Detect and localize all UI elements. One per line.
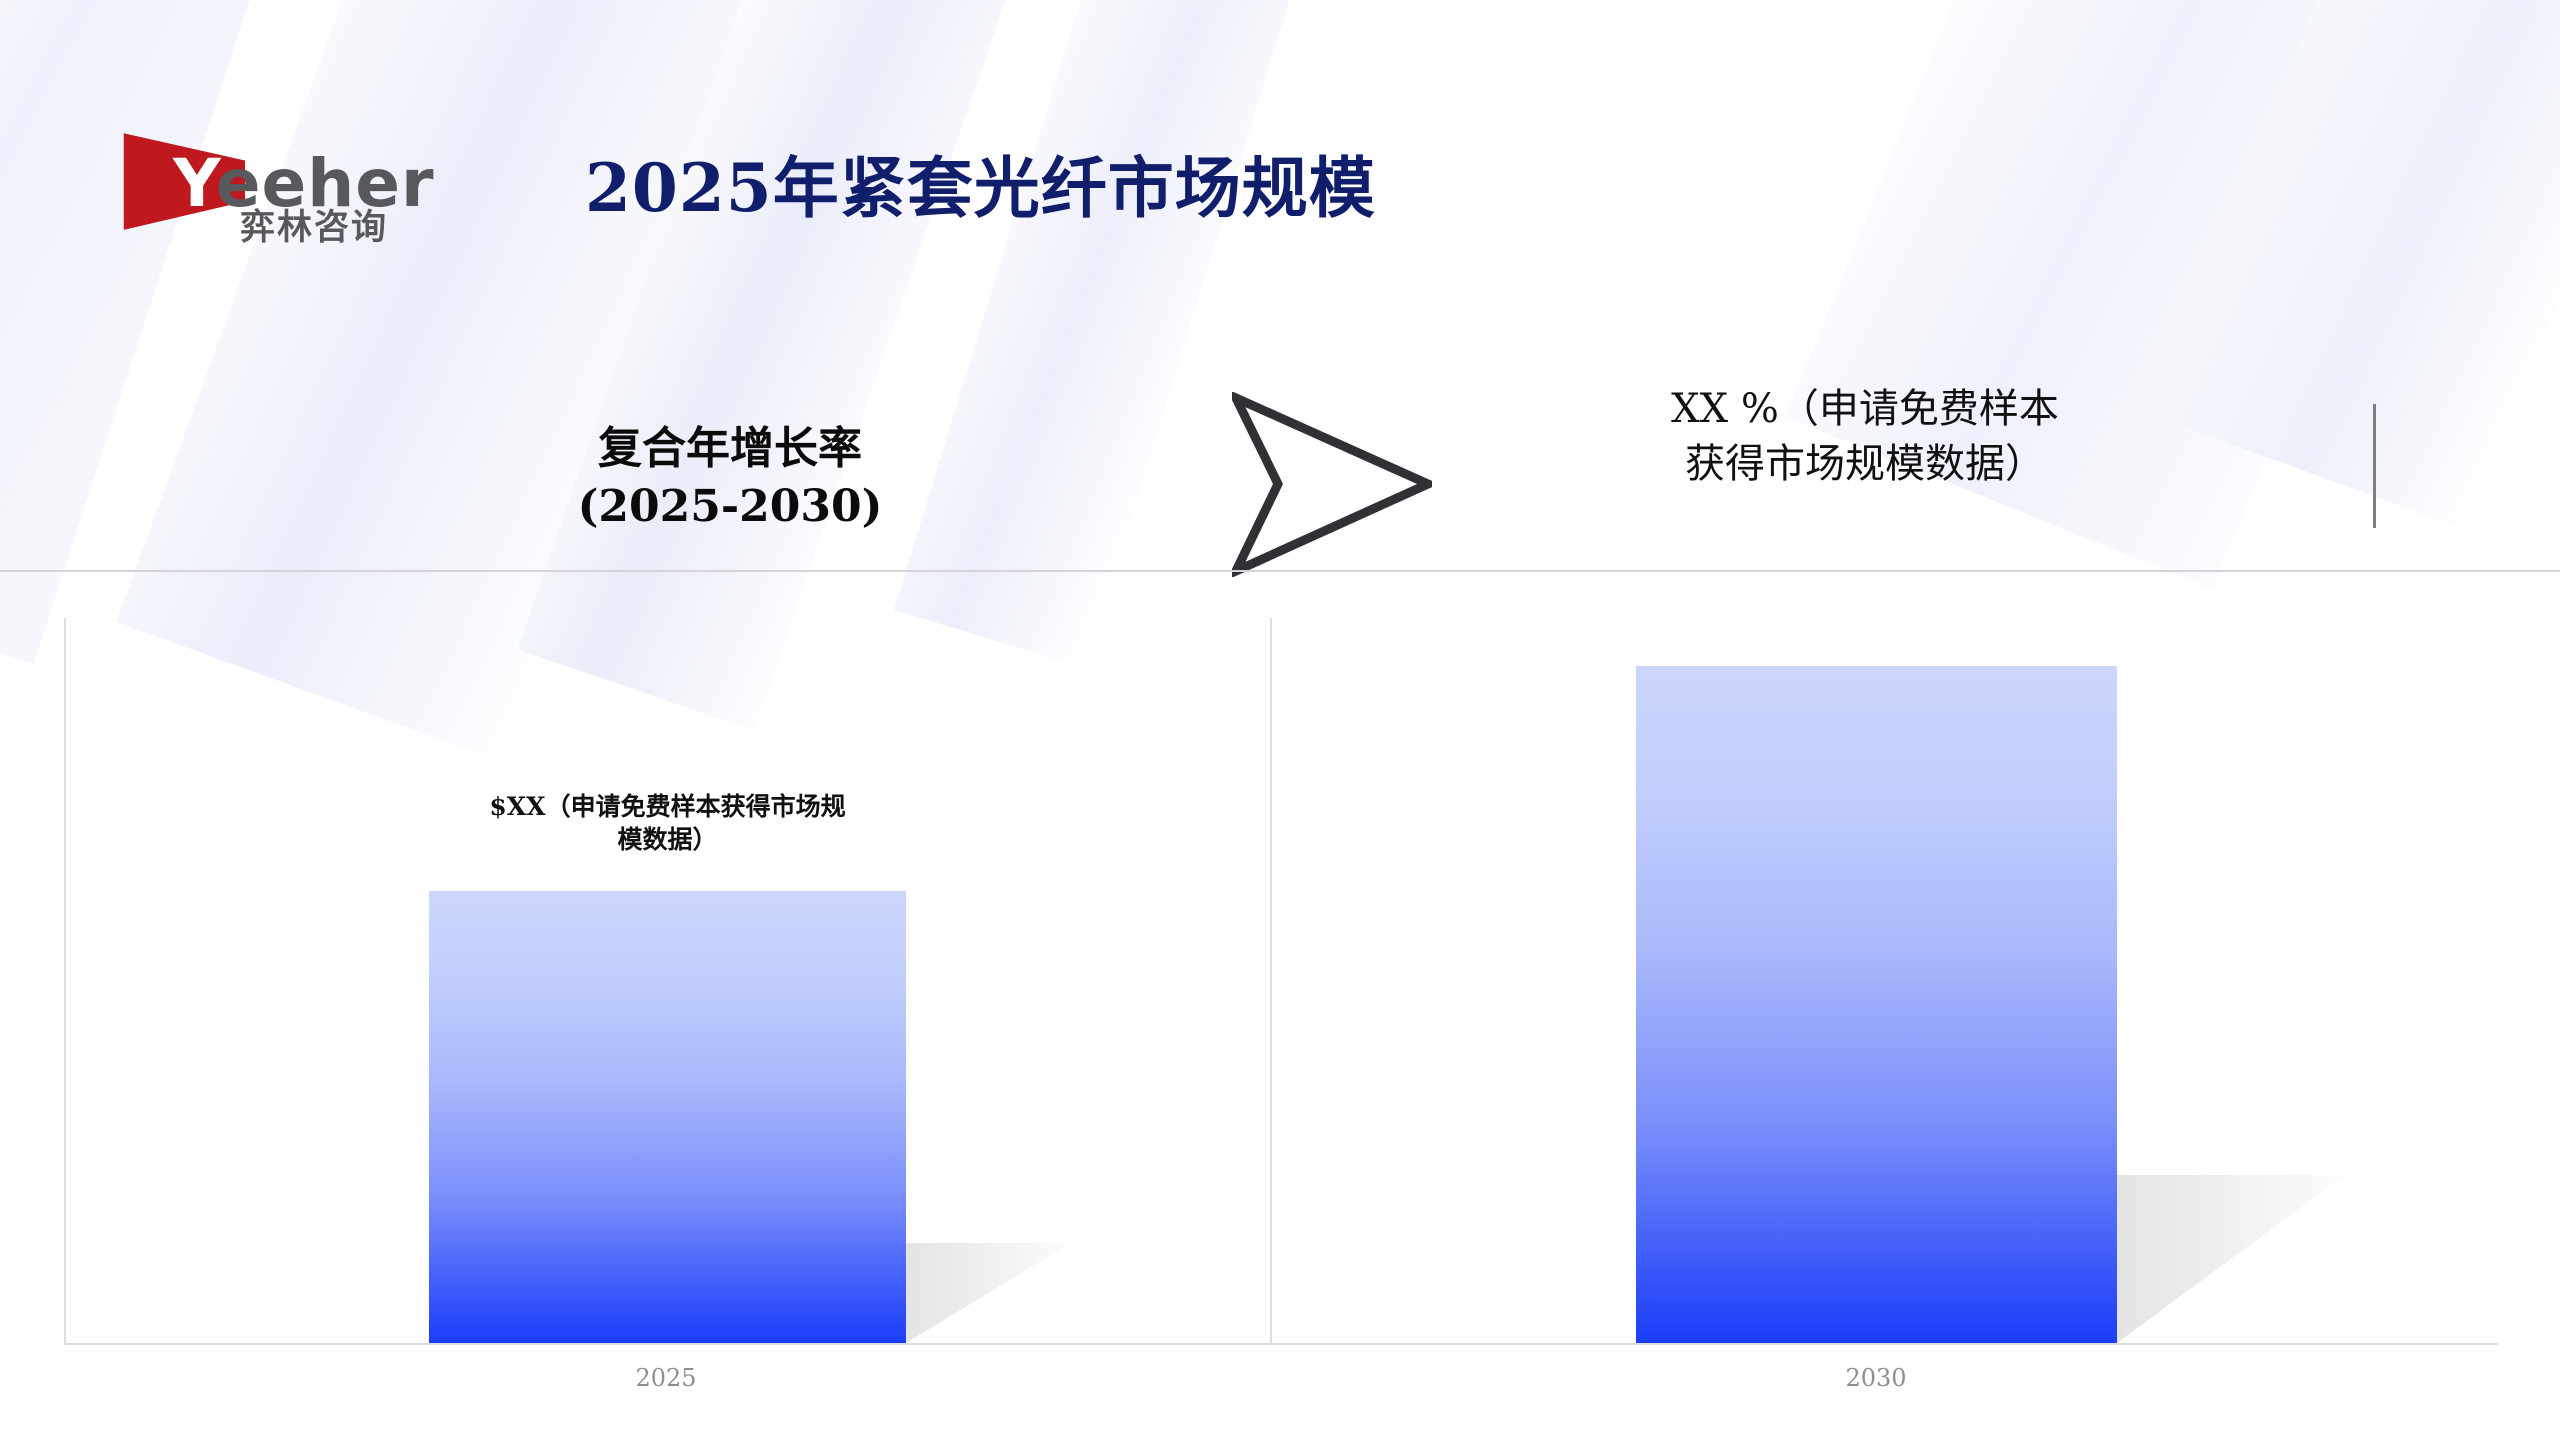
cagr-value-line2: 获得市场规模数据）	[1630, 437, 2100, 492]
header-rule	[0, 570, 2560, 572]
bar-shadow-2030	[2117, 1175, 2345, 1343]
background-ribbon-1	[0, 0, 312, 664]
arrow-svg	[1232, 392, 1432, 577]
cagr-value-callout: XX %（申请免费样本 获得市场规模数据）	[1630, 382, 2100, 492]
x-tick-label-2025: 2025	[566, 1364, 766, 1392]
logo-wordmark-chinese: 弈林咨询	[240, 211, 388, 246]
background-ribbon-5	[1786, 0, 2560, 589]
cagr-label: 复合年增长率	[560, 420, 900, 478]
cagr-period: (2025-2030)	[560, 478, 900, 536]
plot-category-divider	[1270, 618, 1272, 1345]
cagr-value-line1: XX %（申请免费样本	[1630, 382, 2100, 437]
plot-baseline-axis	[64, 1343, 2498, 1345]
bar-value-label-2025: $XX（申请免费样本获得市场规 模数据）	[455, 790, 880, 856]
x-tick-label-2030: 2030	[1776, 1364, 1976, 1392]
background-ribbon-2	[116, 0, 913, 769]
slide-canvas: Yeeher 弈林咨询 2025年紧套光纤市场规模 复合年增长率 (2025-2…	[0, 0, 2560, 1440]
background-ribbon-3	[518, 0, 1113, 731]
bar-shadow-2025	[906, 1243, 1071, 1343]
page-title: 2025年紧套光纤市场规模	[585, 152, 1376, 225]
plot-left-axis	[64, 618, 66, 1345]
brand-logo: Yeeher 弈林咨询	[120, 128, 450, 243]
bar-value-label-2025-line2: 模数据）	[455, 823, 880, 856]
bar-2030	[1636, 666, 2117, 1343]
background-ribbon-6	[2163, 0, 2560, 532]
callout-divider	[2373, 404, 2376, 528]
logo-wordmark-initial: Y	[173, 145, 216, 222]
bar-2025	[429, 891, 906, 1343]
bar-value-label-2025-line1: $XX（申请免费样本获得市场规	[455, 790, 880, 823]
arrow-right-outline-icon	[1232, 392, 1432, 577]
cagr-caption: 复合年增长率 (2025-2030)	[560, 420, 900, 536]
